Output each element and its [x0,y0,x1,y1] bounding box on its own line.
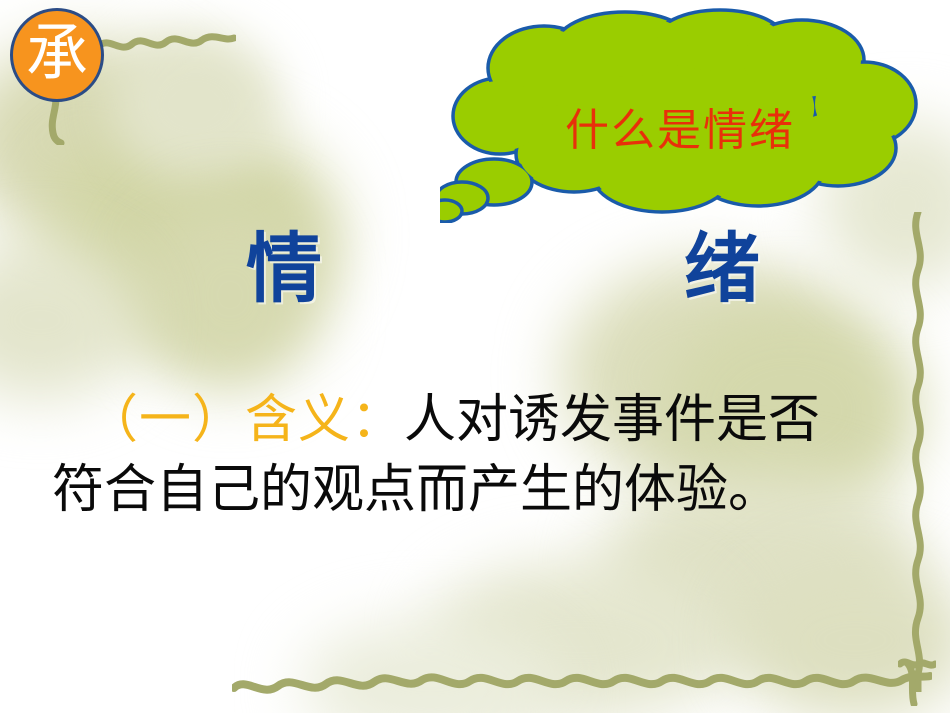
definition-line-1-rest: 人对诱发事件是否 [404,392,820,449]
wavy-stem-icon [96,28,236,60]
thought-bubble-text: 什么是情绪 [440,94,920,158]
headline-char-right: 绪 [684,232,760,308]
definition-line-2: 符合自己的观点而产生的体验。 [52,456,912,526]
slide-canvas: 承 [0,0,950,713]
headline-char-left: 情 [246,232,322,308]
badge-circle: 承 [10,8,104,102]
vine-stem-icon [44,95,70,145]
definition-label: （一）含义： [86,392,404,449]
badge-character: 承 [26,23,88,85]
watermark-blob [0,240,140,400]
definition-block: （一）含义：人对诱发事件是否 符合自己的观点而产生的体验。 [52,386,912,526]
definition-line-1: （一）含义：人对诱发事件是否 [52,386,912,456]
horizontal-wavy-vine-icon [232,664,932,706]
thought-bubble: 什么是情绪 [440,8,920,223]
